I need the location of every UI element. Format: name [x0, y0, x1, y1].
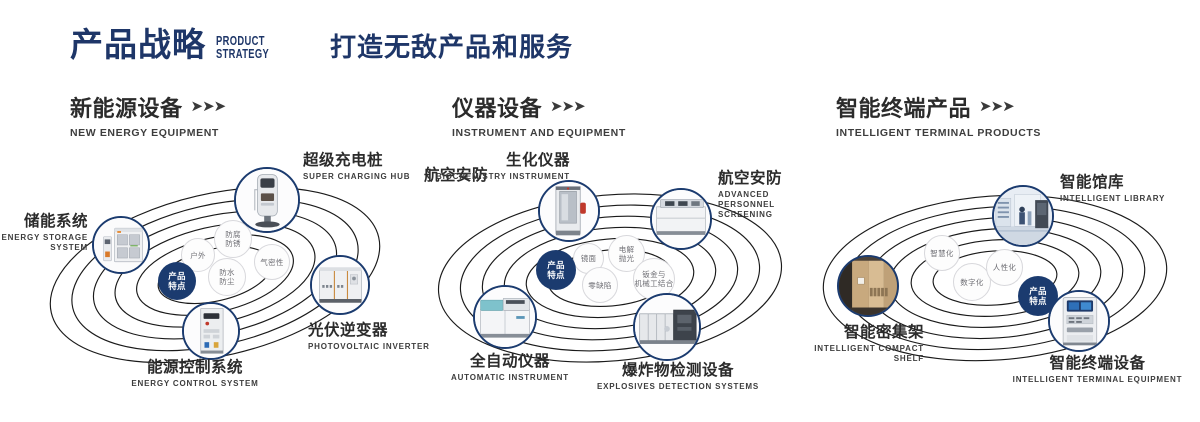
- label-cn: 能源控制系统: [85, 359, 305, 377]
- feature-bubble-text: 电解抛光: [619, 245, 635, 263]
- section-heading-en: INTELLIGENT TERMINAL PRODUCTS: [836, 127, 1041, 139]
- section-heading-cn: 智能终端产品: [836, 96, 971, 122]
- label-cn: 生化仪器: [430, 152, 570, 170]
- node-intelligent-library[interactable]: [992, 185, 1054, 247]
- section-heading-instrument: 仪器设备➤➤➤ INSTRUMENT AND EQUIPMENT: [452, 96, 626, 139]
- feature-bubble: 人性化: [986, 249, 1023, 286]
- biochemistry-instrument-image: [540, 182, 598, 240]
- core-bubble-text: 产品特点: [168, 271, 186, 291]
- section-heading-new-energy: 新能源设备➤➤➤ NEW ENERGY EQUIPMENT: [70, 96, 225, 139]
- label-cn: 全自动仪器: [430, 353, 590, 371]
- chevrons-right-icon: ➤➤➤: [550, 97, 585, 115]
- label-cn: 智能馆库: [1060, 174, 1165, 192]
- label-cn: 储能系统: [0, 213, 88, 231]
- feature-bubble-text: 智慧化: [930, 249, 953, 258]
- section-heading-cn: 仪器设备: [452, 96, 542, 122]
- label-automatic-instrument: 全自动仪器 AUTOMATIC INSTRUMENT: [430, 353, 590, 383]
- label-energy-storage-system: 储能系统 ENERGY STORAGE SYSTEM: [0, 213, 88, 253]
- label-explosives-detection-systems: 爆炸物检测设备 EXPLOSIVES DETECTION SYSTEMS: [578, 362, 778, 392]
- node-explosives-detection-systems[interactable]: [633, 293, 701, 361]
- label-intelligent-compact-shelf: 智能密集架 INTELLIGENT COMPACT SHELF: [790, 324, 924, 364]
- feature-bubble-text: 镜面: [581, 254, 597, 263]
- intelligent-library-image: [994, 187, 1052, 245]
- energy-storage-system-image: [94, 218, 148, 272]
- intelligent-terminal-equipment-image: [1050, 292, 1108, 350]
- page-title: 产品战略: [70, 28, 206, 61]
- feature-bubble-text: 防腐防锈: [225, 230, 241, 248]
- core-bubble-product-features: 产品特点: [536, 250, 576, 290]
- label-en: ENERGY CONTROL SYSTEM: [85, 379, 305, 389]
- advanced-personnel-screening-image: [652, 190, 710, 248]
- section-heading-intelligent-terminal: 智能终端产品➤➤➤ INTELLIGENT TERMINAL PRODUCTS: [836, 96, 1041, 139]
- automatic-instrument-image: [475, 287, 535, 347]
- label-intelligent-library: 智能馆库 INTELLIGENT LIBRARY: [1060, 174, 1165, 204]
- node-intelligent-compact-shelf[interactable]: [837, 255, 899, 317]
- node-super-charging-hub[interactable]: [234, 167, 300, 233]
- node-photovoltaic-inverter[interactable]: [310, 255, 370, 315]
- product-strategy-infographic: 产品战略 PRODUCT STRATEGY 打造无敌产品和服务 新能源设备➤➤➤…: [0, 0, 1200, 422]
- explosives-detection-systems-image: [635, 295, 699, 359]
- label-intelligent-terminal-equipment: 智能终端设备 INTELLIGENT TERMINAL EQUIPMENT: [995, 355, 1200, 385]
- feature-bubble: 智慧化: [924, 235, 960, 271]
- label-biochemistry-instrument: 生化仪器 BIOCHEMISTRY INSTRUMENT: [430, 152, 570, 182]
- cluster-instrument: 镜面 电解抛光 零缺陷 钣金与机械工结合 产品特点: [400, 150, 820, 405]
- node-energy-storage-system[interactable]: [92, 216, 150, 274]
- label-en: ENERGY STORAGE SYSTEM: [0, 233, 88, 253]
- label-en: SUPER CHARGING HUB: [303, 172, 410, 182]
- feature-bubble-text: 户外: [190, 251, 206, 260]
- cluster-intelligent-terminal: 智慧化 数字化 人性化 产品特点: [790, 150, 1200, 400]
- feature-bubble: 防水防尘: [208, 258, 246, 296]
- super-charging-hub-image: [236, 169, 298, 231]
- page-title-english: PRODUCT STRATEGY: [216, 34, 269, 60]
- label-super-charging-hub: 超级充电桩 SUPER CHARGING HUB: [303, 152, 410, 182]
- photovoltaic-inverter-image: [312, 257, 368, 313]
- label-en: INTELLIGENT COMPACT SHELF: [790, 344, 924, 364]
- header: 产品战略 PRODUCT STRATEGY 打造无敌产品和服务: [0, 0, 1200, 88]
- feature-bubble-text: 零缺陷: [588, 281, 611, 290]
- label-en: BIOCHEMISTRY INSTRUMENT: [430, 172, 570, 182]
- feature-bubble: 零缺陷: [582, 267, 618, 303]
- section-heading-en: NEW ENERGY EQUIPMENT: [70, 127, 225, 139]
- node-biochemistry-instrument[interactable]: [538, 180, 600, 242]
- feature-bubble-text: 气密性: [260, 258, 283, 267]
- feature-bubble-text: 钣金与机械工结合: [635, 270, 674, 288]
- node-intelligent-terminal-equipment[interactable]: [1048, 290, 1110, 352]
- feature-bubble-text: 防水防尘: [219, 268, 235, 286]
- label-cn: 爆炸物检测设备: [578, 362, 778, 380]
- core-bubble-product-features: 产品特点: [158, 262, 196, 300]
- page-title-english-line2: STRATEGY: [216, 47, 269, 60]
- label-cn: 智能密集架: [790, 324, 924, 342]
- node-energy-control-system[interactable]: [182, 302, 240, 360]
- node-advanced-personnel-screening[interactable]: [650, 188, 712, 250]
- core-bubble-text: 产品特点: [547, 260, 565, 280]
- label-cn: 超级充电桩: [303, 152, 410, 170]
- core-bubble-text: 产品特点: [1029, 286, 1047, 306]
- section-heading-en: INSTRUMENT AND EQUIPMENT: [452, 127, 626, 139]
- section-heading-cn: 新能源设备: [70, 96, 183, 122]
- feature-bubble-text: 人性化: [993, 263, 1016, 272]
- label-en: INTELLIGENT TERMINAL EQUIPMENT: [995, 375, 1200, 385]
- label-en: EXPLOSIVES DETECTION SYSTEMS: [578, 382, 778, 392]
- intelligent-compact-shelf-image: [839, 257, 897, 315]
- page-slogan: 打造无敌产品和服务: [330, 34, 573, 60]
- cluster-new-energy: 户外 防腐防锈 防水防尘 气密性 产品特点: [0, 150, 420, 400]
- node-automatic-instrument[interactable]: [473, 285, 537, 349]
- feature-bubble-text: 数字化: [960, 278, 983, 287]
- label-energy-control-system: 能源控制系统 ENERGY CONTROL SYSTEM: [85, 359, 305, 389]
- feature-bubble: 气密性: [254, 244, 290, 280]
- label-en: INTELLIGENT LIBRARY: [1060, 194, 1165, 204]
- label-en: AUTOMATIC INSTRUMENT: [430, 373, 590, 383]
- label-cn: 智能终端设备: [995, 355, 1200, 373]
- chevrons-right-icon: ➤➤➤: [979, 97, 1014, 115]
- energy-control-system-image: [184, 304, 238, 358]
- chevrons-right-icon: ➤➤➤: [191, 97, 226, 115]
